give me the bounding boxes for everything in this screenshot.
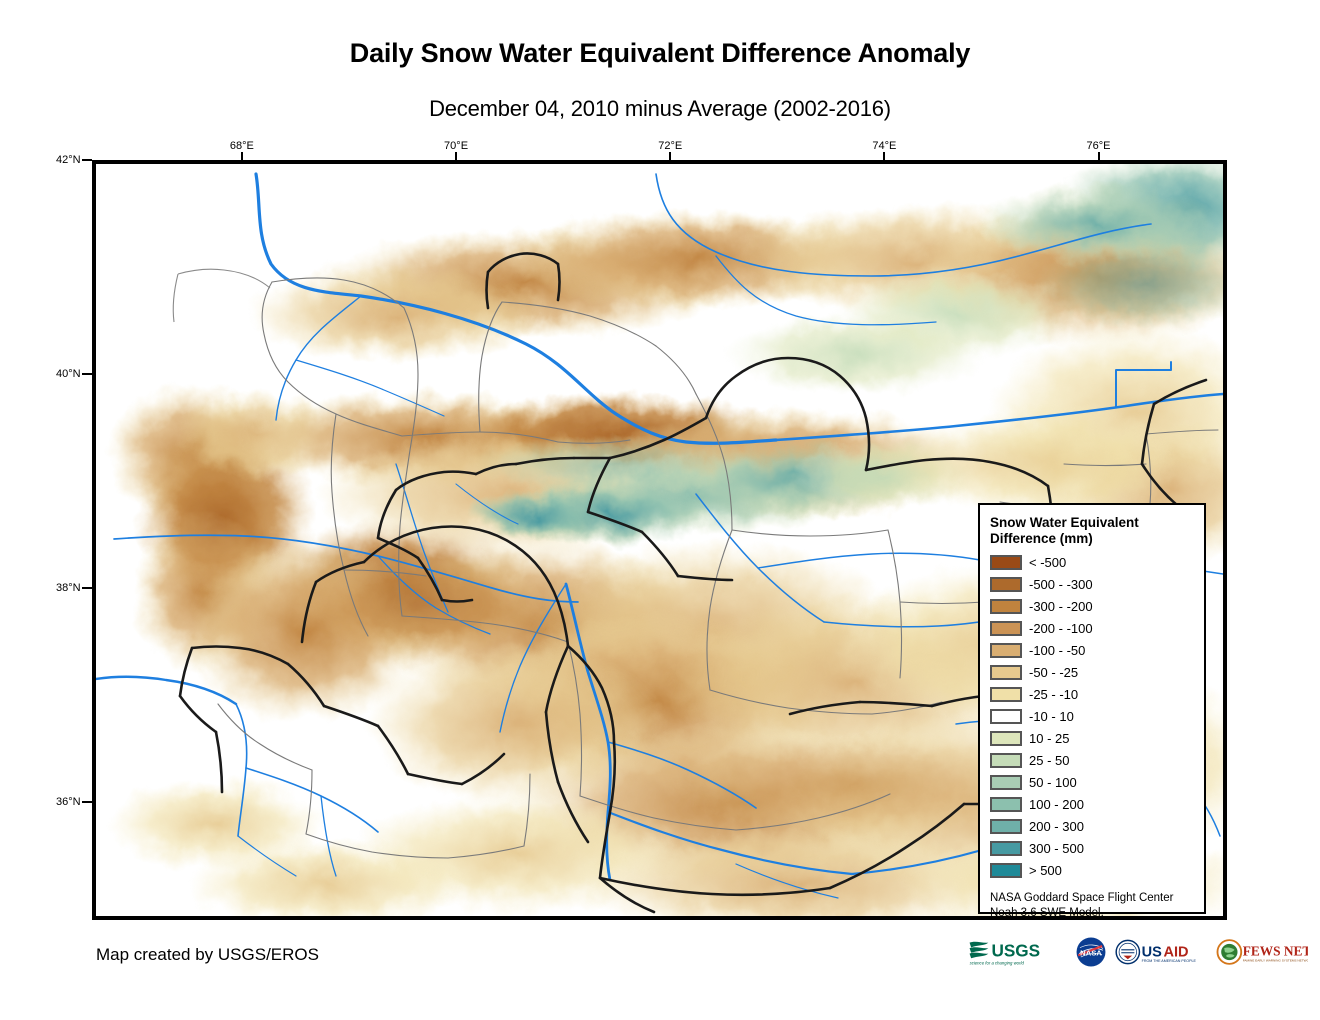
legend-row: -10 - 10 bbox=[990, 706, 1194, 728]
latitude-label: 42°N bbox=[56, 154, 81, 166]
legend-swatch bbox=[990, 753, 1022, 768]
legend-swatch bbox=[990, 555, 1022, 570]
legend-row: -300 - -200 bbox=[990, 596, 1194, 618]
legend-swatch bbox=[990, 665, 1022, 680]
legend-label: 200 - 300 bbox=[1029, 820, 1084, 833]
legend-swatch bbox=[990, 621, 1022, 636]
map-page: Daily Snow Water Equivalent Difference A… bbox=[0, 0, 1320, 1020]
legend-row: 300 - 500 bbox=[990, 838, 1194, 860]
legend-row: 10 - 25 bbox=[990, 728, 1194, 750]
legend-label: -10 - 10 bbox=[1029, 710, 1074, 723]
svg-text:FAMINE EARLY WARNING SYSTEMS N: FAMINE EARLY WARNING SYSTEMS NETWORK bbox=[1243, 959, 1308, 963]
legend-label: -100 - -50 bbox=[1029, 644, 1085, 657]
legend-label: < -500 bbox=[1029, 556, 1066, 569]
legend-label: -500 - -300 bbox=[1029, 578, 1093, 591]
legend-swatch bbox=[990, 687, 1022, 702]
legend-row: -100 - -50 bbox=[990, 640, 1194, 662]
legend-swatch bbox=[990, 731, 1022, 746]
longitude-label: 70°E bbox=[444, 140, 468, 152]
legend-label: 25 - 50 bbox=[1029, 754, 1069, 767]
legend-label: -50 - -25 bbox=[1029, 666, 1078, 679]
legend-swatch bbox=[990, 841, 1022, 856]
page-subtitle: December 04, 2010 minus Average (2002-20… bbox=[0, 96, 1320, 122]
legend-label: 100 - 200 bbox=[1029, 798, 1084, 811]
svg-text:NASA: NASA bbox=[1080, 948, 1102, 957]
legend-swatch bbox=[990, 863, 1022, 878]
legend-row: -25 - -10 bbox=[990, 684, 1194, 706]
partner-logos: USGS science for a changing world NASA U… bbox=[968, 934, 1308, 970]
latitude-tick bbox=[82, 159, 92, 161]
legend-row: 25 - 50 bbox=[990, 750, 1194, 772]
legend-label: -25 - -10 bbox=[1029, 688, 1078, 701]
svg-text:science for a changing world: science for a changing world bbox=[970, 961, 1025, 966]
footer-credit: Map created by USGS/EROS bbox=[96, 945, 319, 965]
legend-swatch bbox=[990, 819, 1022, 834]
page-title: Daily Snow Water Equivalent Difference A… bbox=[0, 38, 1320, 69]
svg-text:US: US bbox=[1142, 944, 1162, 960]
legend-row: 100 - 200 bbox=[990, 794, 1194, 816]
latitude-tick bbox=[82, 373, 92, 375]
legend-row: 200 - 300 bbox=[990, 816, 1194, 838]
longitude-label: 74°E bbox=[872, 140, 896, 152]
latitude-tick bbox=[82, 587, 92, 589]
legend-label: 10 - 25 bbox=[1029, 732, 1069, 745]
legend-label: -200 - -100 bbox=[1029, 622, 1093, 635]
longitude-label: 72°E bbox=[658, 140, 682, 152]
legend-credit: NASA Goddard Space Flight Center Noah 3.… bbox=[990, 891, 1194, 921]
svg-text:AID: AID bbox=[1163, 944, 1188, 960]
legend-row: > 500 bbox=[990, 860, 1194, 882]
legend-row: -500 - -300 bbox=[990, 574, 1194, 596]
svg-text:FEWS NET: FEWS NET bbox=[1243, 944, 1308, 959]
legend-label: -300 - -200 bbox=[1029, 600, 1093, 613]
legend-swatch bbox=[990, 643, 1022, 658]
usgs-logo: USGS science for a changing world bbox=[968, 935, 1068, 969]
legend-label: 300 - 500 bbox=[1029, 842, 1084, 855]
latitude-label: 40°N bbox=[56, 368, 81, 380]
legend-label: > 500 bbox=[1029, 864, 1062, 877]
longitude-label: 76°E bbox=[1087, 140, 1111, 152]
map-legend: Snow Water Equivalent Difference (mm) < … bbox=[978, 503, 1206, 914]
svg-text:USGS: USGS bbox=[991, 941, 1040, 961]
legend-swatch bbox=[990, 709, 1022, 724]
usaid-logo: US AID FROM THE AMERICAN PEOPLE bbox=[1114, 935, 1210, 969]
latitude-tick bbox=[82, 801, 92, 803]
legend-swatch bbox=[990, 797, 1022, 812]
legend-swatch bbox=[990, 599, 1022, 614]
svg-text:FROM THE AMERICAN PEOPLE: FROM THE AMERICAN PEOPLE bbox=[1142, 959, 1197, 963]
longitude-label: 68°E bbox=[230, 140, 254, 152]
fewsnet-logo: FEWS NET FAMINE EARLY WARNING SYSTEMS NE… bbox=[1216, 935, 1308, 969]
nasa-logo: NASA bbox=[1074, 935, 1108, 969]
legend-swatch bbox=[990, 577, 1022, 592]
latitude-label: 36°N bbox=[56, 796, 81, 808]
latitude-label: 38°N bbox=[56, 582, 81, 594]
legend-label: 50 - 100 bbox=[1029, 776, 1077, 789]
legend-row: -200 - -100 bbox=[990, 618, 1194, 640]
legend-title: Snow Water Equivalent Difference (mm) bbox=[990, 515, 1194, 547]
legend-row: 50 - 100 bbox=[990, 772, 1194, 794]
legend-row: -50 - -25 bbox=[990, 662, 1194, 684]
legend-swatch bbox=[990, 775, 1022, 790]
legend-row: < -500 bbox=[990, 552, 1194, 574]
legend-entries: < -500-500 - -300-300 - -200-200 - -100-… bbox=[990, 552, 1194, 882]
